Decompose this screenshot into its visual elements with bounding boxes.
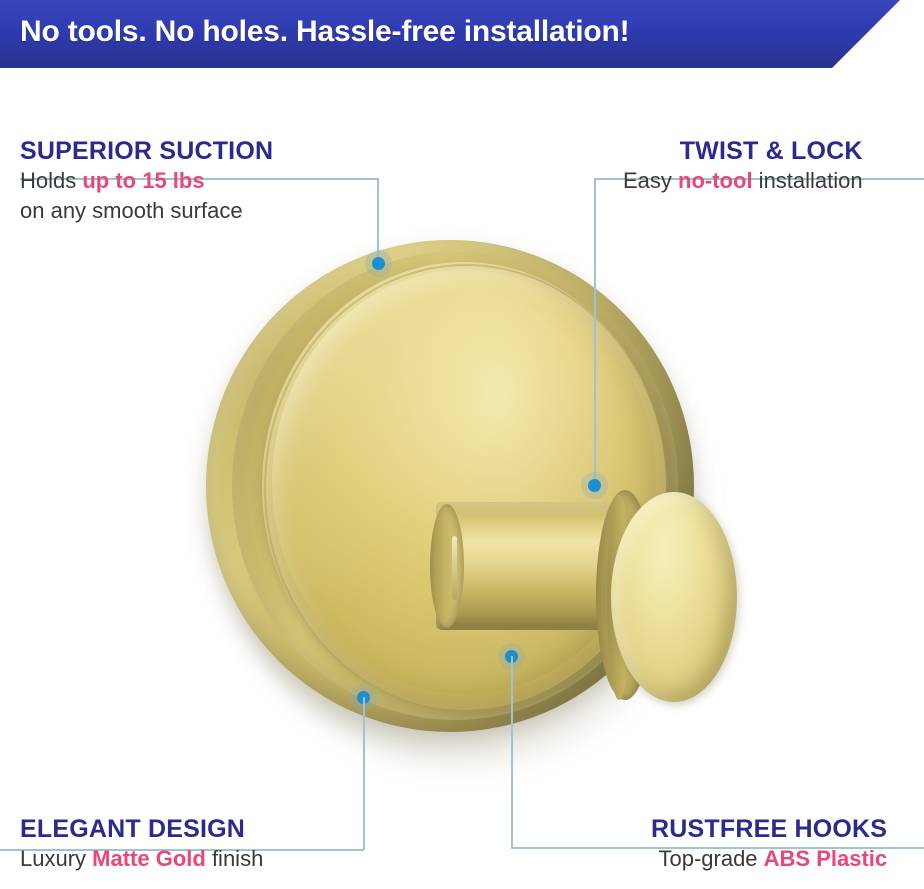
callout-title-twist-and-lock: TWIST & LOCK: [623, 137, 863, 166]
accent-text: Matte Gold: [92, 846, 206, 871]
callout-superior-suction: SUPERIOR SUCTION Holds up to 15 lbs on a…: [20, 137, 273, 226]
callout-body-twist-and-lock-line1: Easy no-tool installation: [623, 166, 863, 196]
leader-line-elegant-design-vertical: [363, 697, 365, 850]
text-post: installation: [753, 168, 863, 193]
accent-text: up to 15 lbs: [82, 168, 204, 193]
hook-stem-base-cap: [430, 504, 464, 628]
hook-knob-face: [611, 492, 737, 702]
hook-stem-groove: [452, 536, 457, 600]
leader-line-rustfree-hooks-vertical: [511, 656, 513, 848]
leader-line-superior-suction-vertical: [377, 178, 379, 264]
callout-elegant-design: ELEGANT DESIGN Luxury Matte Gold finish: [20, 815, 263, 874]
text-pre: Holds: [20, 168, 82, 193]
text-post: finish: [206, 846, 263, 871]
accent-text: no-tool: [678, 168, 753, 193]
callout-body-superior-suction-line1: Holds up to 15 lbs: [20, 166, 273, 196]
callout-title-elegant-design: ELEGANT DESIGN: [20, 815, 263, 844]
text-pre: Easy: [623, 168, 678, 193]
leader-line-twist-lock-vertical: [594, 178, 596, 486]
banner-headline: No tools. No holes. Hassle-free installa…: [20, 0, 629, 68]
callout-body-rustfree-hooks-line1: Top-grade ABS Plastic: [651, 844, 887, 874]
callout-title-superior-suction: SUPERIOR SUCTION: [20, 137, 273, 166]
text-pre: Luxury: [20, 846, 92, 871]
callout-body-elegant-design-line1: Luxury Matte Gold finish: [20, 844, 263, 874]
callout-body-superior-suction-line2: on any smooth surface: [20, 196, 273, 226]
accent-text: ABS Plastic: [764, 846, 888, 871]
callout-twist-and-lock: TWIST & LOCK Easy no-tool installation: [623, 137, 863, 196]
marker-dot-superior-suction: [372, 257, 385, 270]
text-pre: Top-grade: [658, 846, 763, 871]
marker-dot-twist-lock: [588, 479, 601, 492]
callout-rustfree-hooks: RUSTFREE HOOKS Top-grade ABS Plastic: [651, 815, 887, 874]
infographic-canvas: No tools. No holes. Hassle-free installa…: [0, 0, 924, 889]
callout-title-rustfree-hooks: RUSTFREE HOOKS: [651, 815, 887, 844]
